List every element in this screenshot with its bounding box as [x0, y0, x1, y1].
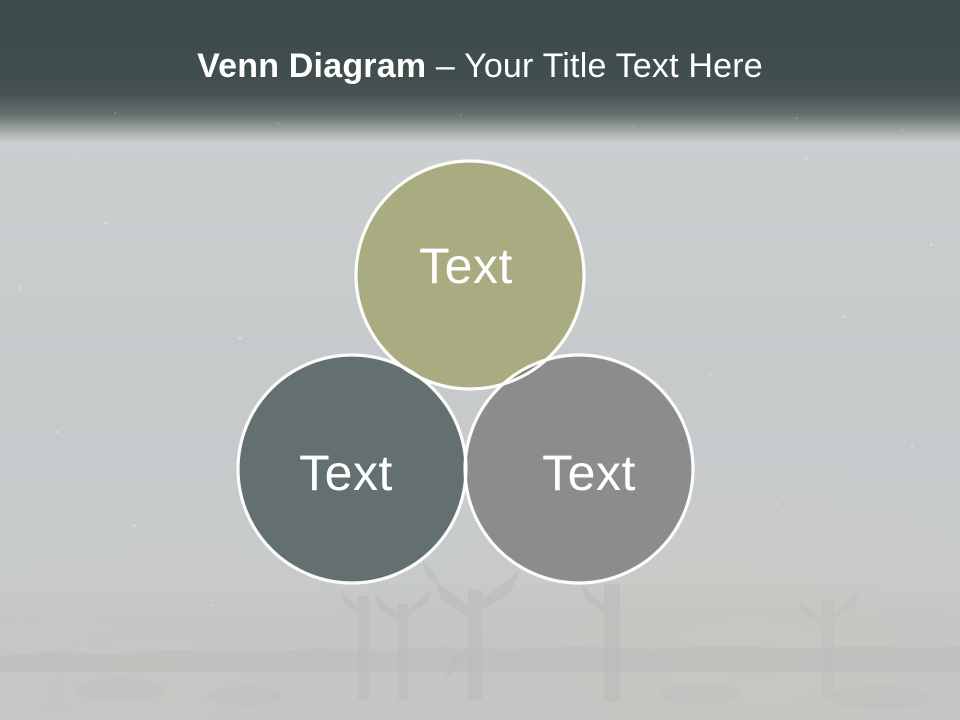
venn-label-top[interactable]: Text: [366, 241, 566, 291]
slide-canvas: Venn Diagram – Your Title Text Here: [0, 0, 960, 720]
venn-diagram: [0, 0, 960, 720]
venn-label-left[interactable]: Text: [246, 448, 446, 498]
venn-label-right[interactable]: Text: [489, 448, 689, 498]
